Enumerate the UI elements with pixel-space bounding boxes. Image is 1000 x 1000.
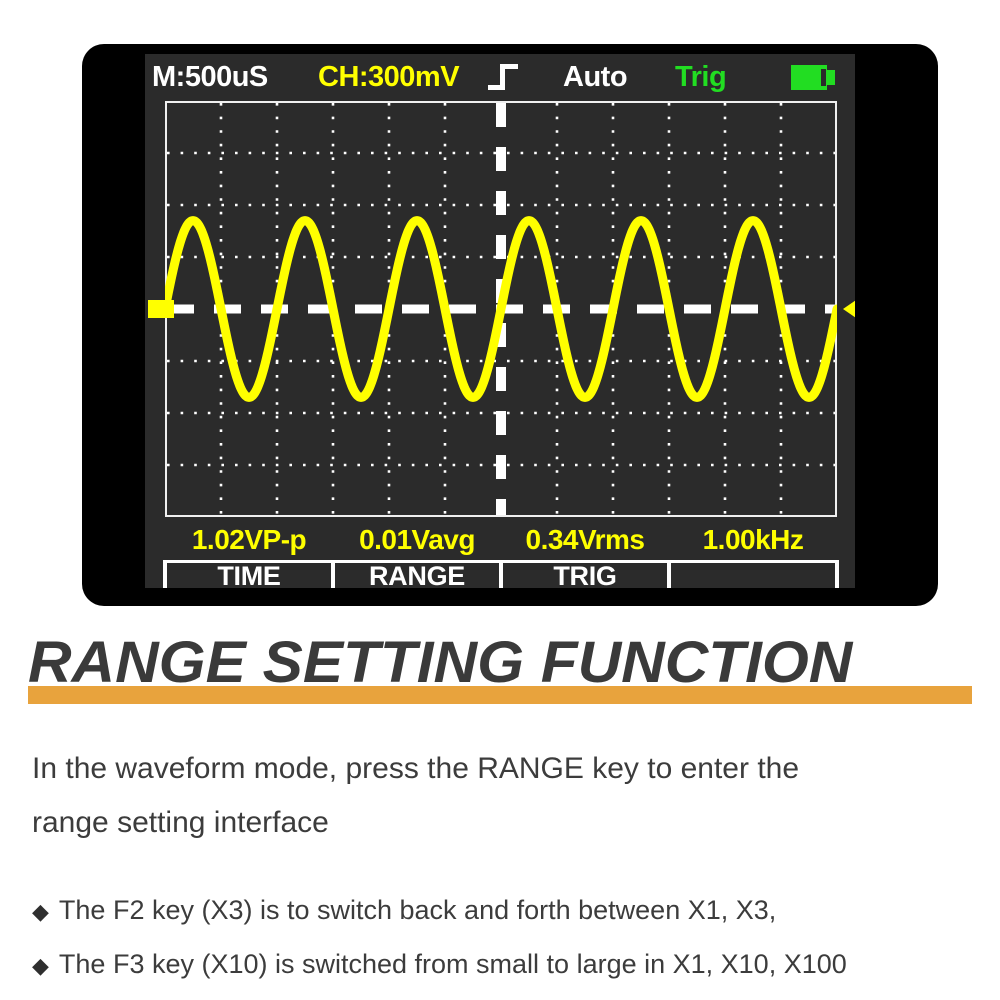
- waveform-plot: [165, 101, 837, 517]
- measurement-row: 1.02VP-p 0.01Vavg 0.34Vrms 1.00kHz: [165, 522, 837, 558]
- channel-scale-label[interactable]: CH:300mV: [318, 54, 459, 100]
- trigger-position-marker[interactable]: [843, 298, 855, 320]
- status-bar: M:500uS CH:300mV Auto Trig: [145, 54, 855, 100]
- softkey-empty[interactable]: [667, 563, 839, 588]
- intro-paragraph: In the waveform mode, press the RANGE ke…: [32, 742, 962, 850]
- diamond-bullet-icon: ◆: [32, 940, 49, 992]
- heading-block: RANGE SETTING FUNCTION: [28, 628, 972, 708]
- measurement-vrms: 0.34Vrms: [501, 522, 669, 558]
- diamond-bullet-icon: ◆: [32, 886, 49, 938]
- trigger-mode-label[interactable]: Auto: [563, 54, 627, 100]
- intro-line-1: In the waveform mode, press the RANGE ke…: [32, 742, 962, 796]
- waveform-graticule: [165, 101, 837, 517]
- list-item: ◆ The F3 key (X10) is switched from smal…: [32, 938, 972, 992]
- intro-line-2: range setting interface: [32, 796, 962, 850]
- softkey-trig[interactable]: TRIG: [499, 563, 667, 588]
- page-title: RANGE SETTING FUNCTION: [28, 628, 852, 698]
- rising-edge-icon[interactable]: [488, 64, 518, 90]
- list-item-text: The F2 key (X3) is to switch back and fo…: [59, 884, 776, 936]
- timebase-label[interactable]: M:500uS: [152, 54, 268, 100]
- trigger-state-label: Trig: [675, 54, 726, 100]
- battery-icon: [791, 65, 839, 90]
- channel-level-marker[interactable]: [148, 300, 174, 318]
- list-item: ◆ The F2 key (X3) is to switch back and …: [32, 884, 972, 938]
- list-item-text: The F3 key (X10) is switched from small …: [59, 938, 847, 990]
- oscilloscope-screen: M:500uS CH:300mV Auto Trig 1.02VP-p 0.01…: [145, 54, 855, 588]
- bullet-list: ◆ The F2 key (X3) is to switch back and …: [32, 884, 972, 992]
- softkey-range[interactable]: RANGE: [331, 563, 499, 588]
- measurement-frequency: 1.00kHz: [669, 522, 837, 558]
- softkey-time[interactable]: TIME: [163, 563, 331, 588]
- measurement-vavg: 0.01Vavg: [333, 522, 501, 558]
- measurement-vpp: 1.02VP-p: [165, 522, 333, 558]
- softkey-row: TIME RANGE TRIG: [163, 560, 839, 588]
